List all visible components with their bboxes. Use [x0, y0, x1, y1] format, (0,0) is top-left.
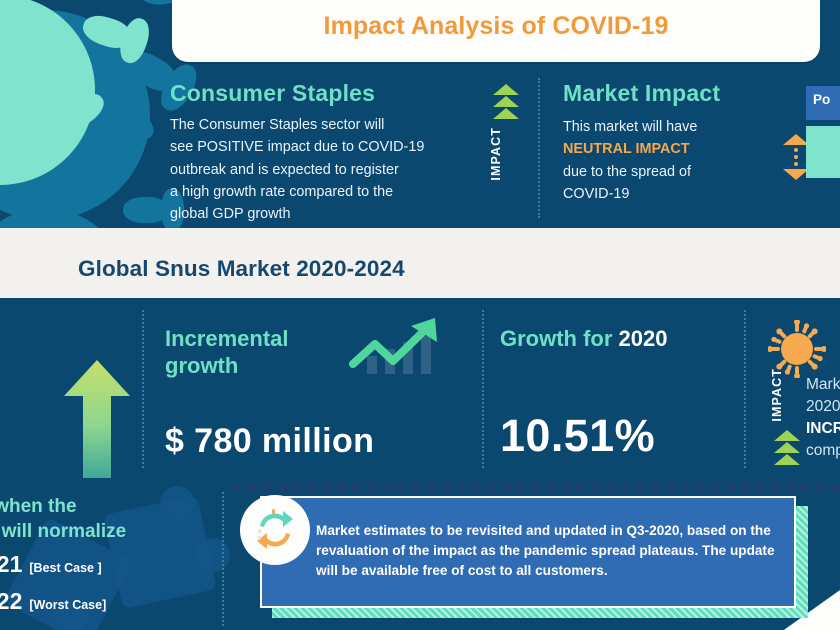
normalize-line: me by when the [0, 494, 234, 519]
market-impact-body: This market will have NEUTRAL IMPACT due… [563, 116, 763, 205]
best-case-row: 021[Best Case ] [0, 551, 102, 578]
body-line: due to the spread of [563, 161, 763, 183]
infographic-canvas: Impact Analysis of COVID-19 Consumer Sta… [0, 0, 840, 630]
chevron-up-icon [774, 442, 800, 453]
chevron-up-icon [493, 84, 519, 95]
body-line: global GDP growth [170, 203, 480, 225]
body-line: a high growth rate compared to the [170, 181, 480, 203]
divider-vertical [482, 310, 484, 468]
trending-up-icon [345, 316, 445, 378]
body-line-part: impact due to COVID-19 [264, 139, 425, 155]
market-title: Global Snus Market 2020-2024 [78, 256, 405, 282]
normalize-block: me by when the market will normalize [0, 494, 234, 545]
partial-line: INCRE [806, 418, 840, 440]
best-case-year: 021 [0, 551, 22, 577]
growth-2020-block: Growth for 2020 [500, 326, 668, 352]
arrow-up-icon [62, 358, 132, 478]
impact-indicator-positive: IMPACT [489, 84, 523, 181]
divider-vertical [142, 310, 144, 468]
partial-line: Marke [806, 374, 840, 396]
growth-2020-label: Growth for 2020 [500, 326, 668, 352]
market-impact-heading: Market Impact [563, 80, 763, 107]
body-line: This market will have [563, 116, 763, 138]
body-line: The Consumer Staples sector will [170, 114, 480, 136]
divider-vertical [744, 310, 746, 468]
worst-case-year: 022 [0, 588, 22, 614]
normalize-line: market will normalize [0, 519, 234, 544]
chevrons-up-icon [489, 84, 523, 119]
impact-label: IMPACT [770, 368, 804, 422]
dot [794, 155, 798, 159]
market-impact-block: Market Impact This market will have NEUT… [563, 80, 763, 205]
partial-line: comp [806, 440, 840, 462]
right-cutoff-panel: Po [806, 86, 840, 178]
dot [794, 162, 798, 166]
market-impact-highlight: NEUTRAL IMPACT [563, 138, 763, 160]
body-line: outbreak and is expected to register [170, 159, 480, 181]
right-panel-header: Po [806, 86, 840, 120]
refresh-cycle-icon [240, 495, 310, 565]
consumer-staples-body: The Consumer Staples sector will see POS… [170, 114, 480, 226]
right-panel-body [806, 126, 840, 178]
body-line-part: see POSITIVE [170, 139, 264, 155]
title-card: Impact Analysis of COVID-19 [172, 0, 820, 62]
growth-2020-value: 10.51% [500, 410, 655, 462]
best-case-tag: [Best Case ] [29, 561, 101, 575]
partial-line: 2020 [806, 396, 840, 418]
consumer-staples-heading: Consumer Staples [170, 80, 480, 107]
incremental-growth-label-line: Incremental [165, 326, 365, 353]
dot [794, 148, 798, 152]
incremental-growth-block: Incremental growth [165, 326, 365, 380]
callout-text: Market estimates to be revisited and upd… [316, 521, 786, 581]
chevrons-up-icon [770, 430, 804, 465]
worst-case-row: 022[Worst Case] [0, 588, 106, 615]
incremental-growth-label-line: growth [165, 353, 365, 380]
body-line: see POSITIVE impact due to COVID-19 [170, 136, 480, 158]
chevron-up-icon [493, 96, 519, 107]
body-line: COVID-19 [563, 183, 763, 205]
chevron-up-icon [774, 430, 800, 441]
worst-case-tag: [Worst Case] [29, 598, 106, 612]
impact-label: IMPACT [489, 127, 523, 181]
chevron-up-icon [493, 108, 519, 119]
consumer-staples-block: Consumer Staples The Consumer Staples se… [170, 80, 480, 226]
impact-indicator-mid: IMPACT [770, 368, 804, 465]
market-growth-partial-block: Marke 2020 INCRE comp [806, 374, 840, 462]
divider-vertical [538, 78, 540, 218]
divider-dashed [232, 486, 840, 491]
growth-2020-label-year: 2020 [619, 326, 668, 351]
growth-2020-label-prefix: Growth for [500, 326, 619, 351]
chevron-up-icon [774, 454, 800, 465]
page-title: Impact Analysis of COVID-19 [172, 12, 820, 41]
incremental-growth-value: $ 780 million [165, 422, 374, 461]
divider-vertical [222, 492, 224, 626]
